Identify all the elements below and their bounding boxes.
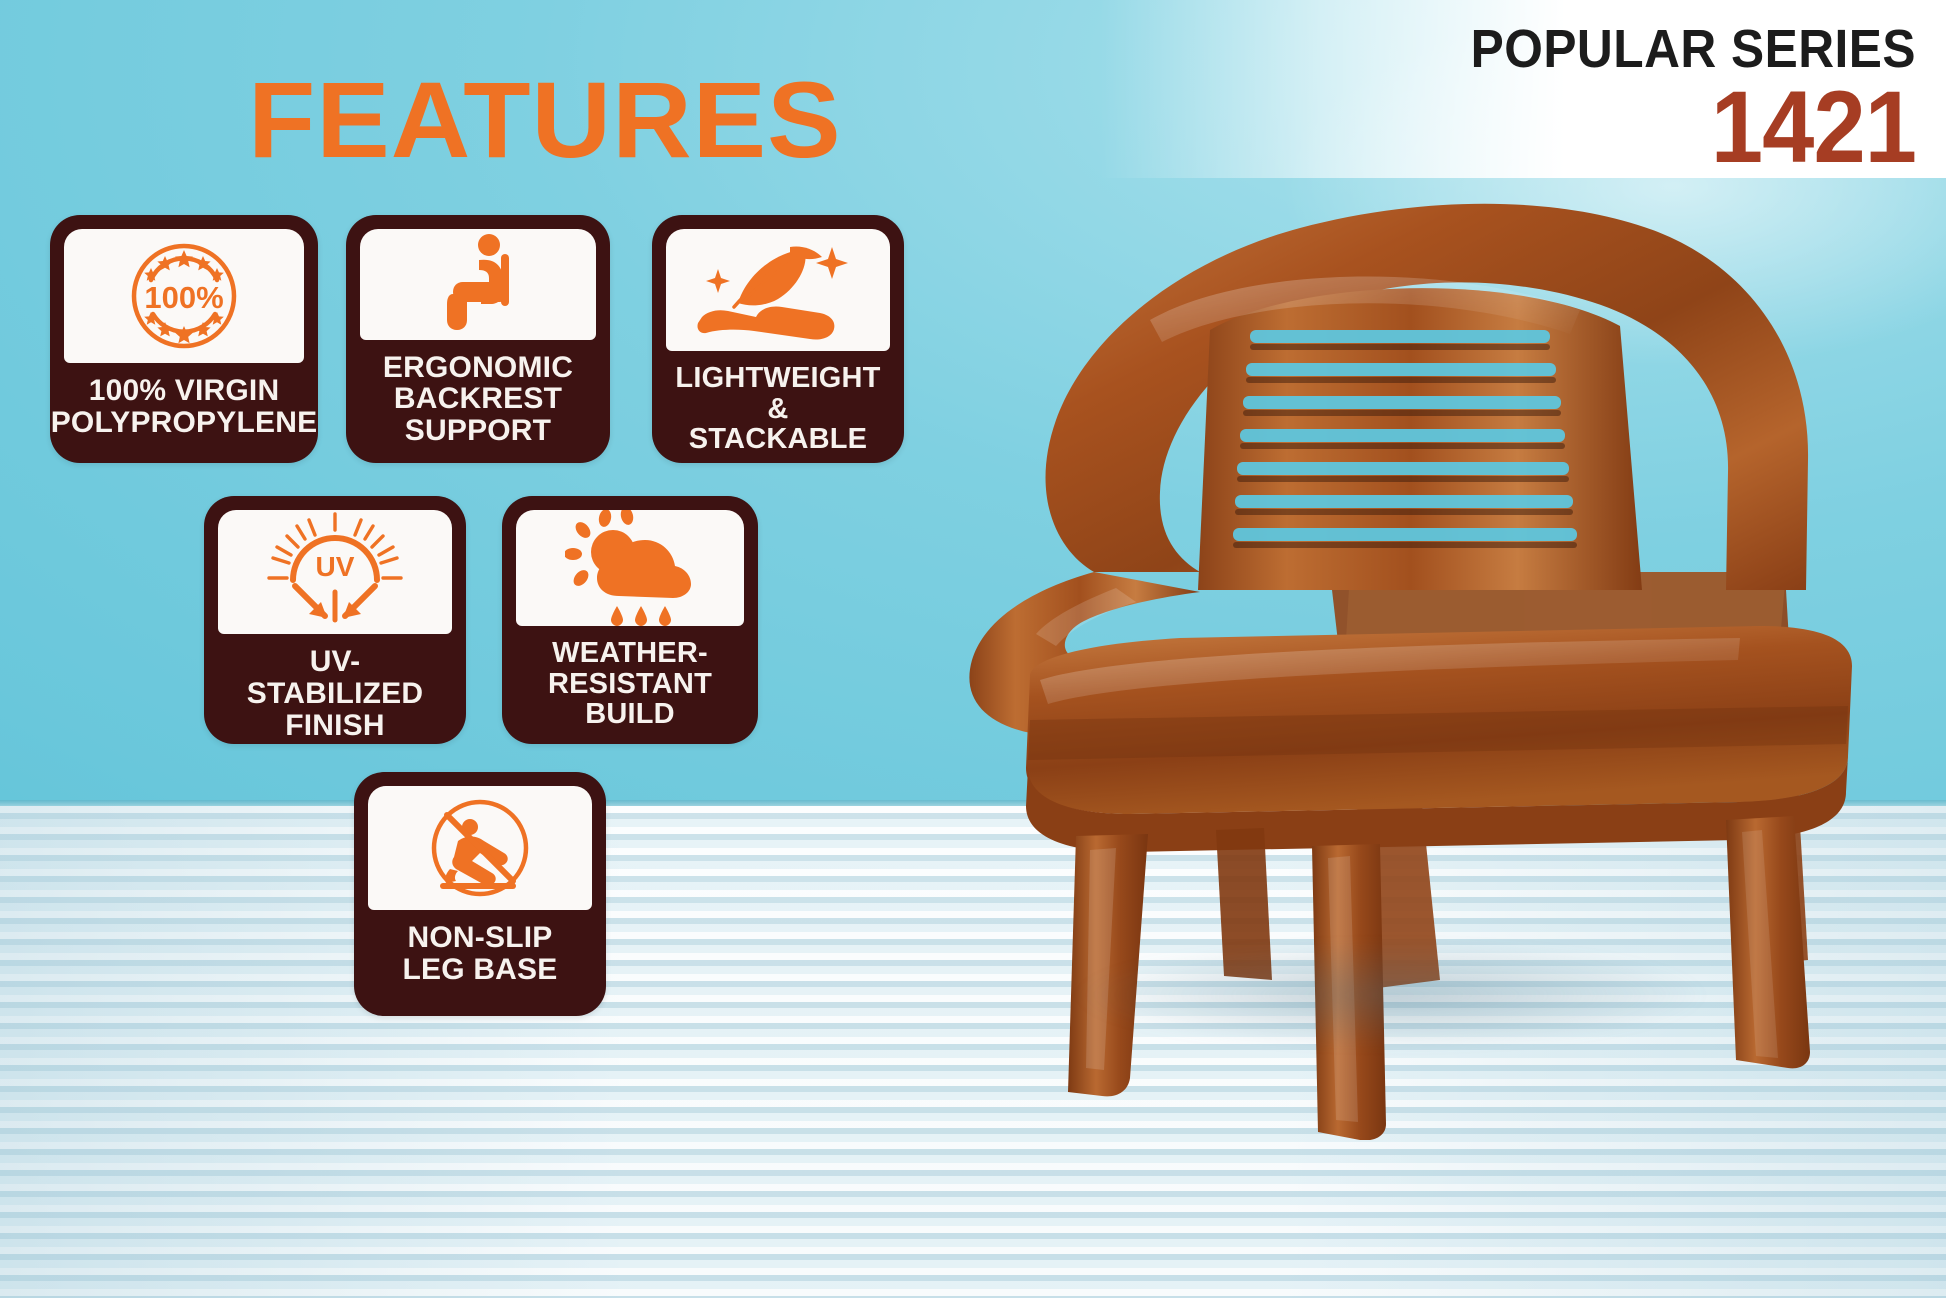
chair-floor-shadow bbox=[950, 920, 1830, 1070]
feature-label: 100% VIRGIN POLYPROPYLENE bbox=[47, 363, 322, 445]
feature-icon-panel: UV bbox=[218, 510, 452, 634]
svg-text:UV: UV bbox=[316, 551, 355, 582]
chair-backrest-panel bbox=[1198, 288, 1642, 590]
feature-label: ERGONOMIC BACKREST SUPPORT bbox=[379, 340, 577, 453]
sun-cloud-rain-icon bbox=[565, 510, 695, 626]
series-label: POPULAR SERIES bbox=[1165, 22, 1916, 76]
uv-sun-shield-icon: UV bbox=[265, 510, 405, 634]
feature-icon-panel bbox=[368, 786, 592, 910]
feature-label: WEATHER- RESISTANT BUILD bbox=[516, 626, 744, 736]
header-banner: POPULAR SERIES 1421 bbox=[1100, 0, 1946, 178]
feature-card-non-slip-leg-base[interactable]: NON-SLIP LEG BASE bbox=[354, 772, 606, 1016]
svg-text:100%: 100% bbox=[144, 280, 223, 315]
feature-label: LIGHTWEIGHT & STACKABLE bbox=[666, 351, 890, 461]
hundred-percent-stamp-icon: 100% bbox=[123, 236, 245, 356]
feature-card-uv-stabilized[interactable]: UV UV-STABILIZED FINISH bbox=[204, 496, 466, 744]
feature-card-lightweight-stackable[interactable]: LIGHTWEIGHT & STACKABLE bbox=[652, 215, 904, 463]
poster-canvas: POPULAR SERIES 1421 FEATURES bbox=[0, 0, 1946, 1298]
no-slip-person-icon bbox=[422, 791, 538, 905]
feature-icon-panel bbox=[516, 510, 744, 626]
feature-label: UV-STABILIZED FINISH bbox=[218, 634, 452, 747]
feather-in-hand-icon bbox=[694, 229, 862, 351]
seated-person-icon bbox=[423, 232, 533, 336]
feature-icon-panel bbox=[360, 229, 596, 340]
feature-icon-panel: 100% bbox=[64, 229, 304, 363]
feature-label: NON-SLIP LEG BASE bbox=[399, 910, 562, 992]
product-chair-image bbox=[880, 120, 1946, 1140]
feature-card-weather-resistant[interactable]: WEATHER- RESISTANT BUILD bbox=[502, 496, 758, 744]
feature-card-ergonomic-backrest[interactable]: ERGONOMIC BACKREST SUPPORT bbox=[346, 215, 610, 463]
feature-card-virgin-polypropylene[interactable]: 100% 100% VIRGIN POLYPROPYLENE bbox=[50, 215, 318, 463]
feature-icon-panel bbox=[666, 229, 890, 351]
model-number: 1421 bbox=[1165, 78, 1916, 178]
page-title: FEATURES bbox=[248, 66, 842, 174]
